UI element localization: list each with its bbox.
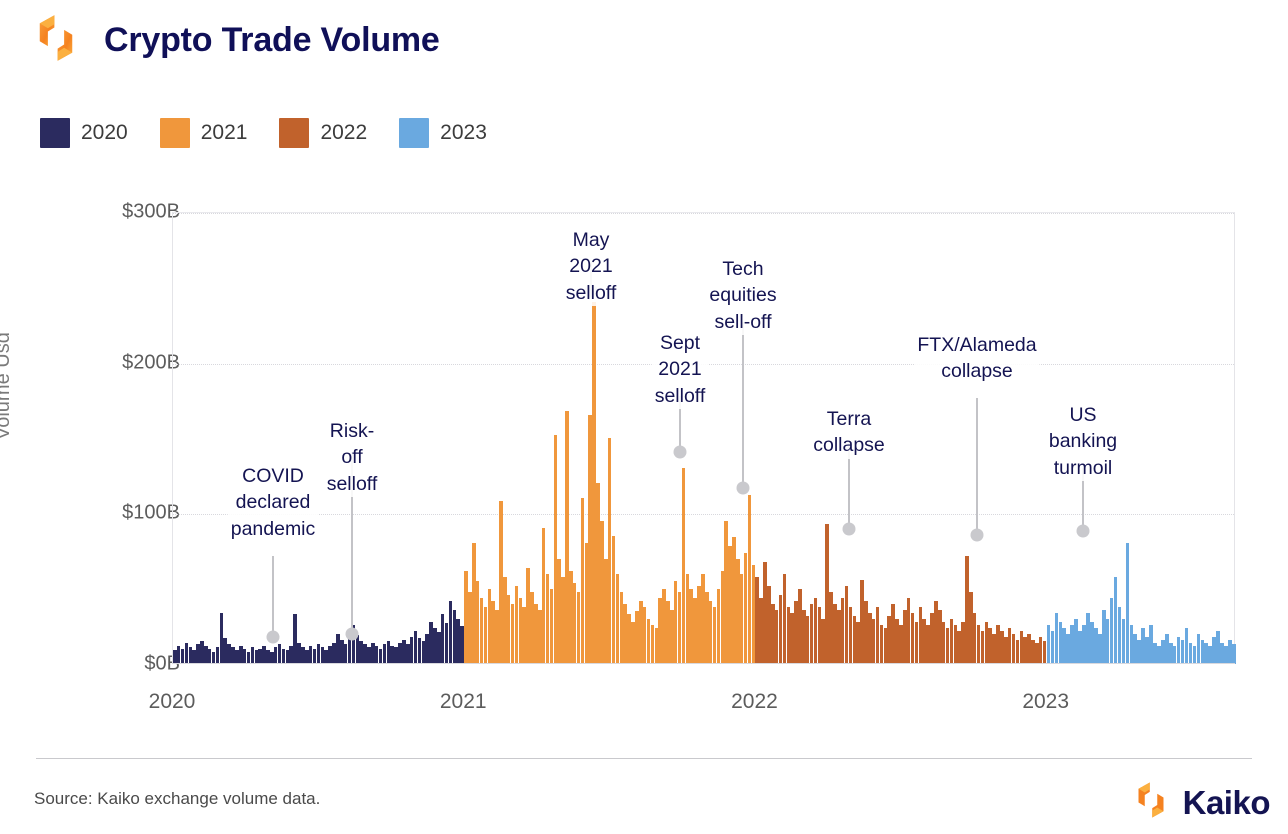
footer-logo: Kaiko <box>1131 780 1270 825</box>
annotation-label: Terra collapse <box>810 406 888 459</box>
x-axis-tick-label: 2021 <box>440 690 487 714</box>
annotation-marker-dot <box>971 529 984 542</box>
annotation-marker-dot <box>737 482 750 495</box>
annotation-leader-line <box>272 556 274 637</box>
annotation-label: COVID declared pandemic <box>228 463 319 542</box>
annotation-marker-dot <box>1077 525 1090 538</box>
annotation-marker-dot <box>346 628 359 641</box>
footer-divider <box>36 758 1252 759</box>
x-axis-tick-label: 2020 <box>149 690 196 714</box>
kaiko-logo-icon <box>1131 780 1171 825</box>
annotation-marker-dot <box>843 523 856 536</box>
annotation-label: Tech equities sell-off <box>706 256 779 335</box>
annotation-marker-dot <box>674 446 687 459</box>
chart-canvas: $0B$100B$200B$300B Volume Usd 2020202120… <box>0 0 1288 760</box>
annotation-label: FTX/Alameda collapse <box>914 332 1039 385</box>
annotation-leader-line <box>742 322 744 488</box>
annotation-label: US banking turmoil <box>1046 402 1120 481</box>
x-axis-line <box>172 663 1235 664</box>
source-note: Source: Kaiko exchange volume data. <box>34 789 320 809</box>
annotation-marker-dot <box>267 631 280 644</box>
x-axis-tick-label: 2023 <box>1022 690 1069 714</box>
bar <box>1232 644 1236 664</box>
y-axis-title: Volume Usd <box>0 332 15 440</box>
annotation-label: Risk-off selloff <box>324 418 381 497</box>
annotation-label: May 2021 selloff <box>563 227 620 306</box>
annotation-label: Sept 2021 selloff <box>652 330 709 409</box>
annotation-leader-line <box>976 398 978 535</box>
x-axis-tick-label: 2022 <box>731 690 778 714</box>
kaiko-wordmark: Kaiko <box>1183 784 1270 822</box>
